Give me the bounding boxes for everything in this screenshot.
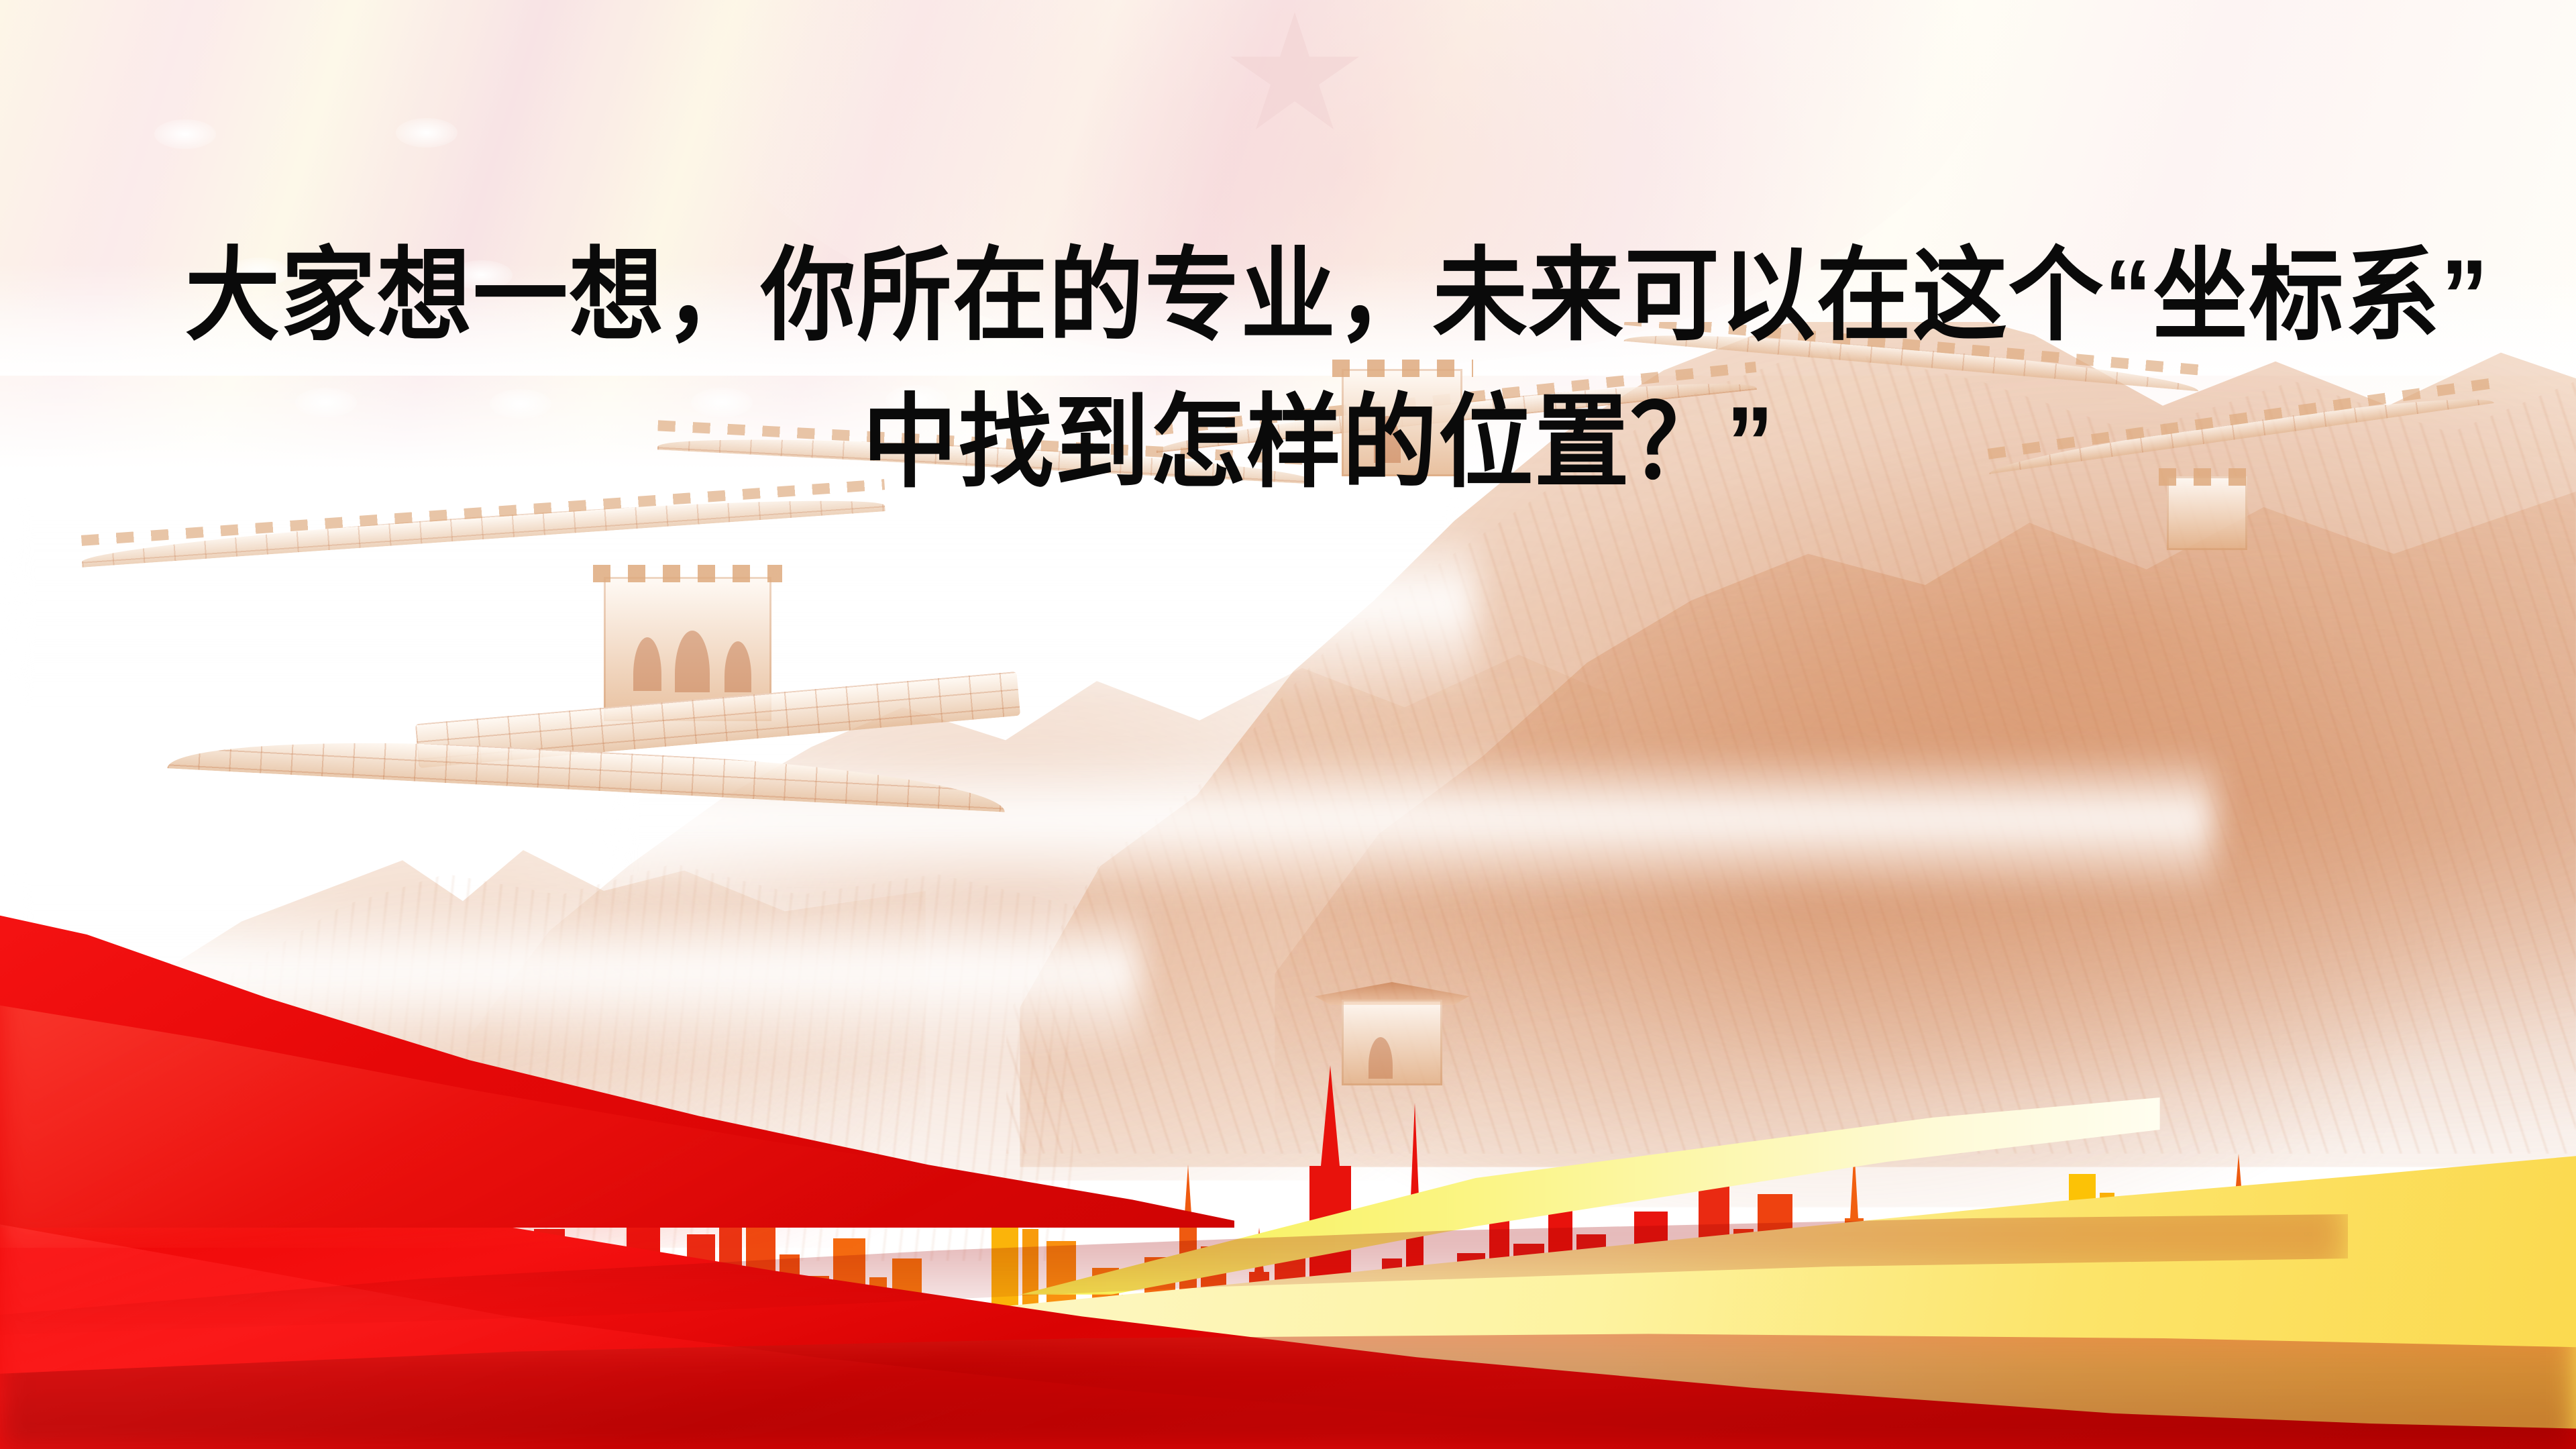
skyline-spire <box>1321 1065 1340 1166</box>
quote-line-1: 大家想一想，你所在的专业，未来可以在这个“坐标系” <box>90 223 2485 370</box>
quote-text-block: 大家想一想，你所在的专业，未来可以在这个“坐标系” 中找到怎样的位置？” <box>0 0 2576 550</box>
watchtower-crenellations-left <box>593 565 782 582</box>
slide-canvas: 大家想一想，你所在的专业，未来可以在这个“坐标系” 中找到怎样的位置？” <box>0 0 2576 1449</box>
quote-line-2: 中找到怎样的位置？” <box>90 370 2485 517</box>
skyline-spire <box>1411 1103 1419 1197</box>
